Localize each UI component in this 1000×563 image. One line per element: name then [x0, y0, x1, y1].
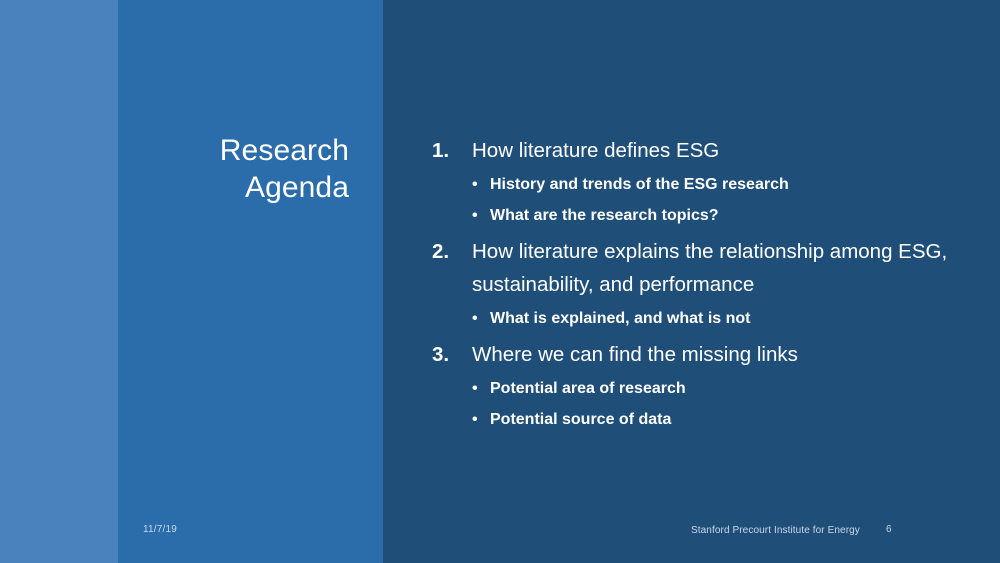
sub-list: • History and trends of the ESG research…	[428, 169, 964, 231]
list-item-number: 3.	[432, 338, 449, 371]
list-item-text: Where we can find the missing links	[472, 343, 798, 366]
sub-list-item: • What is explained, and what is not	[428, 303, 964, 334]
sub-list-item: • What are the research topics?	[428, 200, 964, 231]
presentation-slide: Research Agenda 1. How literature define…	[0, 0, 1000, 563]
sub-list-item-text: What is explained, and what is not	[490, 310, 750, 327]
sub-list: • Potential area of research • Potential…	[428, 373, 964, 435]
sub-list: • What is explained, and what is not	[428, 303, 964, 334]
sub-list-item-text: Potential source of data	[490, 411, 671, 428]
sub-list-item-text: Potential area of research	[490, 380, 686, 397]
bullet-icon: •	[472, 404, 478, 435]
list-item: 2. How literature explains the relations…	[428, 235, 964, 301]
slide-number: 6	[886, 524, 892, 535]
sub-list-item-text: History and trends of the ESG research	[490, 176, 789, 193]
sub-list-item: • Potential source of data	[428, 404, 964, 435]
list-item-number: 1.	[432, 134, 449, 167]
bullet-icon: •	[472, 169, 478, 200]
sub-list-item-text: What are the research topics?	[490, 207, 719, 224]
slide-title: Research Agenda	[128, 132, 349, 206]
background-band-left	[0, 0, 118, 563]
agenda-list: 1. How literature defines ESG • History …	[428, 134, 964, 439]
footer-date: 11/7/19	[143, 524, 177, 535]
list-item-text: How literature explains the relationship…	[472, 240, 947, 296]
list-item-text: How literature defines ESG	[472, 139, 719, 162]
list-item: 1. How literature defines ESG	[428, 134, 964, 167]
sub-list-item: • History and trends of the ESG research	[428, 169, 964, 200]
sub-list-item: • Potential area of research	[428, 373, 964, 404]
list-item: 3. Where we can find the missing links	[428, 338, 964, 371]
footer-organization: Stanford Precourt Institute for Energy	[691, 525, 860, 536]
list-item-number: 2.	[432, 235, 449, 268]
bullet-icon: •	[472, 200, 478, 231]
background-band-middle	[118, 0, 383, 563]
bullet-icon: •	[472, 373, 478, 404]
bullet-icon: •	[472, 303, 478, 334]
